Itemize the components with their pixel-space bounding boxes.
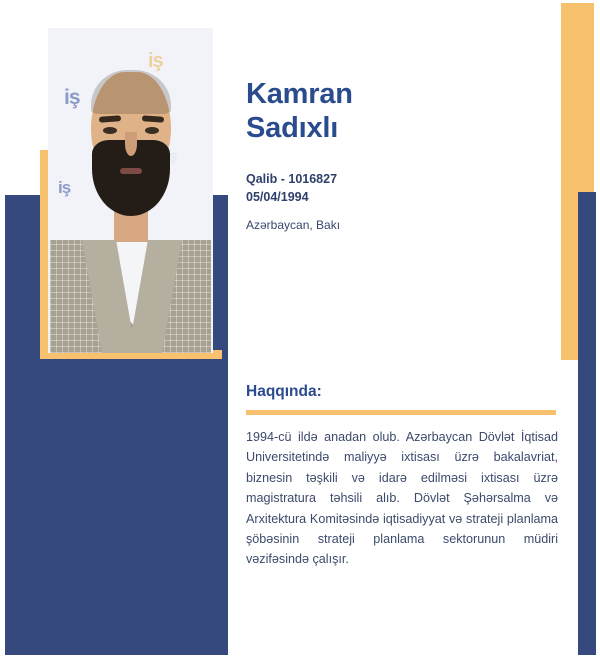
eye-right [145, 127, 159, 134]
status-badge: Qalib - 1016827 [246, 170, 337, 188]
nose [125, 132, 137, 156]
right-blue-bar [578, 192, 596, 655]
profile-name: Kamran Sadıxlı [246, 78, 476, 145]
profile-card: iş iş iş iş iş Kamran Sadıxlı Qalib - 10… [0, 0, 600, 663]
profile-meta: Qalib - 1016827 05/04/1994 [246, 170, 337, 206]
profile-first-name: Kamran [246, 78, 476, 112]
mouth [120, 168, 142, 174]
about-text: 1994-cü ildə anadan olub. Azərbaycan Döv… [246, 427, 558, 570]
profile-location: Azərbaycan, Bakı [246, 218, 340, 232]
eye-left [103, 127, 117, 134]
profile-last-name: Sadıxlı [246, 112, 476, 146]
profile-photo: iş iş iş iş iş [48, 28, 213, 353]
about-divider [246, 410, 556, 415]
hair [91, 70, 171, 114]
person-figure [48, 28, 213, 353]
profile-date: 05/04/1994 [246, 188, 337, 206]
about-heading: Haqqında: [246, 383, 322, 401]
